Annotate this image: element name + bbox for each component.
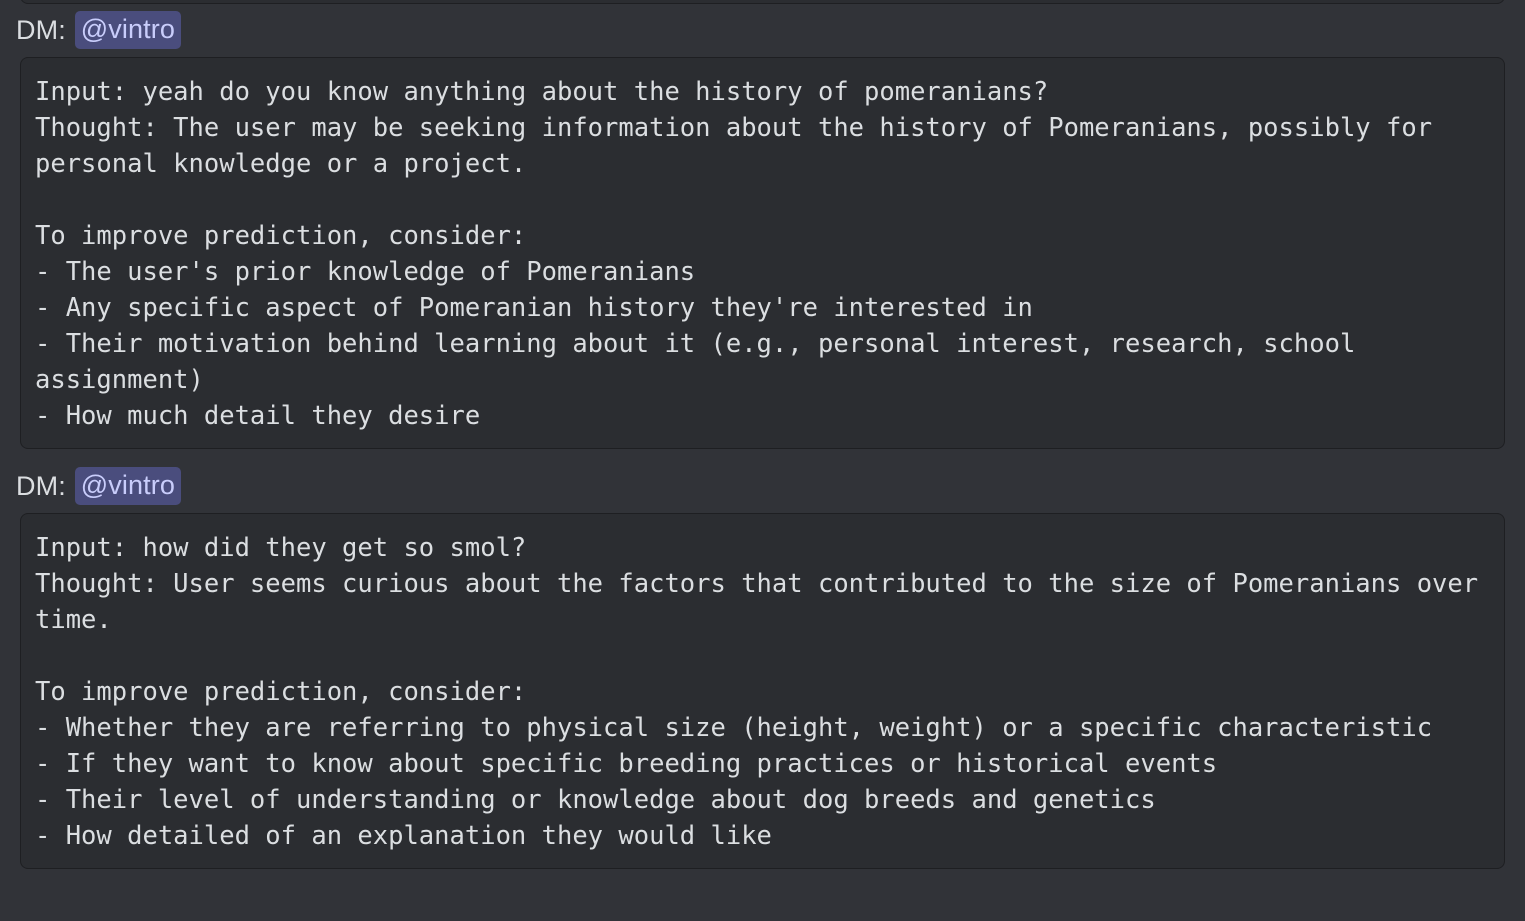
code-block-1-content: Input: yeah do you know anything about t…: [35, 74, 1490, 434]
previous-code-block-sliver: [20, 0, 1505, 4]
message-group-1: DM: @vintro Input: yeah do you know anyt…: [0, 10, 1525, 449]
code-block-1: Input: yeah do you know anything about t…: [20, 57, 1505, 449]
dm-header-1: DM: @vintro: [0, 10, 1525, 50]
dm-label: DM:: [16, 10, 66, 50]
message-group-2: DM: @vintro Input: how did they get so s…: [0, 466, 1525, 869]
mention-pill-vintro[interactable]: @vintro: [75, 11, 181, 49]
code-block-2-content: Input: how did they get so smol? Thought…: [35, 530, 1490, 854]
chat-message-list: DM: @vintro Input: yeah do you know anyt…: [0, 0, 1525, 921]
dm-label: DM:: [16, 466, 66, 506]
code-block-2: Input: how did they get so smol? Thought…: [20, 513, 1505, 869]
dm-header-2: DM: @vintro: [0, 466, 1525, 506]
mention-pill-vintro[interactable]: @vintro: [75, 467, 181, 505]
